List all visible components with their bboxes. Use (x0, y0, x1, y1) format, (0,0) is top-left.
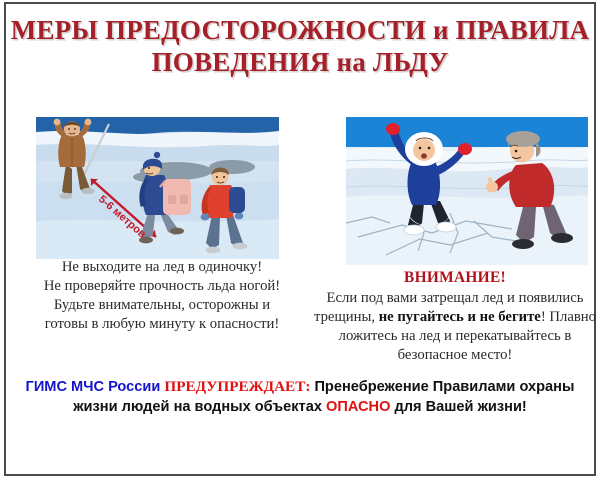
left-advice-line-1: Не выходите на лед в одиночку! (12, 258, 312, 277)
ice-group-walking-illustration: 5-6 метров (36, 117, 279, 259)
left-advice-line-4: готовы в любую минуту к опасности! (12, 315, 312, 334)
cracking-ice-rescue-graphic (346, 117, 588, 265)
footer-danger: ОПАСНО (326, 399, 390, 415)
right-advice-bold: не пугайтесь и не бегите (379, 309, 541, 325)
cracking-ice-rescue-illustration (346, 117, 588, 265)
footer-body-2: для Вашей жизни! (390, 399, 526, 415)
page-title-line-2: ПОВЕДЕНИЯ на ЛЬДУ (0, 48, 600, 76)
footer-agency: ГИМС МЧС России (26, 379, 161, 395)
left-advice-text: Не выходите на лед в одиночку! Не провер… (12, 258, 312, 334)
left-advice-line-2: Не проверяйте прочность льда ногой! (12, 277, 312, 296)
attention-heading: ВНИМАНИЕ! (312, 268, 598, 288)
page-title-line-1: МЕРЫ ПРЕДОСТОРОЖНОСТИ и ПРАВИЛА (0, 16, 600, 44)
left-advice-line-3: Будьте внимательны, осторожны и (12, 296, 312, 315)
page-title: МЕРЫ ПРЕДОСТОРОЖНОСТИ и ПРАВИЛА ПОВЕДЕНИ… (0, 16, 600, 76)
footer-warning: ГИМС МЧС России ПРЕДУПРЕЖДАЕТ: Пренебреж… (14, 377, 586, 418)
footer-warns: ПРЕДУПРЕЖДАЕТ: (164, 378, 310, 395)
right-advice-text: ВНИМАНИЕ! Если под вами затрещал лед и п… (312, 268, 598, 365)
ice-safety-poster: МЕРЫ ПРЕДОСТОРОЖНОСТИ и ПРАВИЛА ПОВЕДЕНИ… (0, 0, 600, 481)
ice-group-walking-graphic: 5-6 метров (36, 117, 279, 259)
